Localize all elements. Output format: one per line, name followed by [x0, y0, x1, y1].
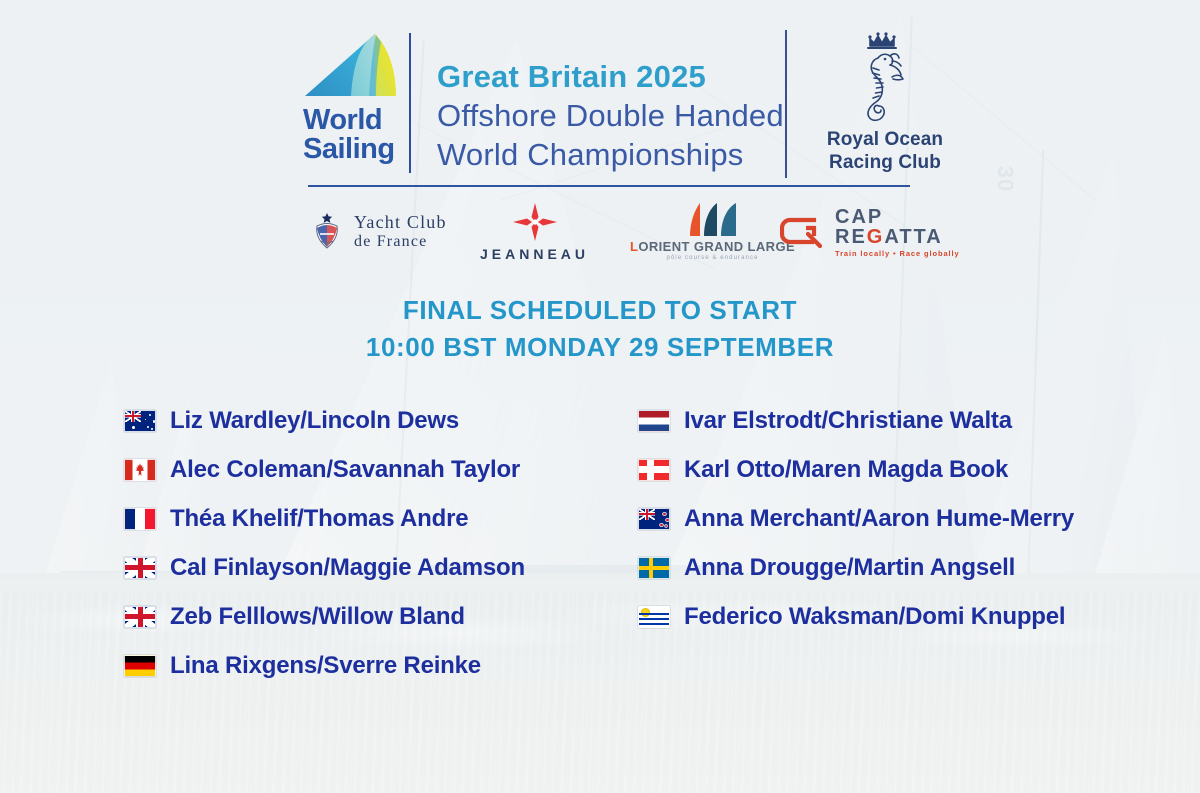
cap-regatta-tagline: Train locally • Race globally [835, 250, 960, 258]
ycf-crest-icon [308, 210, 346, 254]
event-title-line1: Great Britain 2025 [437, 58, 784, 97]
poster-header: World Sailing Great Britain 2025 Offshor… [0, 0, 1200, 190]
announcement-line2: 10:00 BST MONDAY 29 SEPTEMBER [0, 329, 1200, 366]
team-row: Ivar Elstrodt/Christiane Walta [638, 396, 1074, 445]
world-sailing-word-line1: World [303, 106, 403, 135]
flag-france-icon [124, 508, 156, 530]
flag-uruguay-icon [638, 606, 670, 628]
team-name: Alec Coleman/Savannah Taylor [170, 456, 520, 484]
team-row: Alec Coleman/Savannah Taylor [124, 445, 525, 494]
team-column-right: Ivar Elstrodt/Christiane Walta Karl Otto… [638, 396, 1074, 641]
cap-regatta-line2-b: G [867, 226, 885, 248]
header-divider-vertical-right [785, 30, 787, 178]
team-column-left: Liz Wardley/Lincoln Dews Alec Coleman/Sa… [124, 396, 525, 690]
announcement-block: FINAL SCHEDULED TO START 10:00 BST MONDA… [0, 292, 1200, 366]
team-name: Karl Otto/Maren Magda Book [684, 456, 1008, 484]
flag-great-britain-icon [124, 557, 156, 579]
team-row: Anna Merchant/Aaron Hume-Merry [638, 494, 1074, 543]
lorient-grand-large-wordmark: LORIENT GRAND LARGE [630, 239, 795, 254]
event-title-line3: World Championships [437, 136, 784, 175]
ycf-line1: Yacht Club [354, 213, 447, 233]
team-name: Cal Finlayson/Maggie Adamson [170, 554, 525, 582]
flag-germany-icon [124, 655, 156, 677]
rorc-logo: Royal Ocean Racing Club [800, 28, 970, 174]
team-row: Zeb Felllows/Willow Bland [124, 592, 525, 641]
world-sailing-sail-icon [303, 30, 403, 102]
team-name: Federico Waksman/Domi Knuppel [684, 603, 1065, 631]
team-name: Zeb Felllows/Willow Bland [170, 603, 465, 631]
cap-regatta-line2: REGATTA [835, 227, 960, 247]
team-row: Lina Rixgens/Sverre Reinke [124, 641, 525, 690]
jeanneau-compass-star-icon [512, 202, 558, 242]
flag-netherlands-icon [638, 410, 670, 432]
announcement-line1: FINAL SCHEDULED TO START [0, 292, 1200, 329]
team-name: Anna Drougge/Martin Angsell [684, 554, 1015, 582]
sponsor-logo-row: Yacht Club de France [0, 198, 1200, 268]
cap-regatta-line1: CAP [835, 207, 960, 227]
poster-canvas: 30 [0, 0, 1200, 793]
team-name: Lina Rixgens/Sverre Reinke [170, 652, 481, 680]
cap-regatta-mark-icon [780, 212, 826, 252]
world-sailing-word-line2: Sailing [303, 135, 403, 164]
world-sailing-logo: World Sailing [303, 30, 403, 172]
header-divider-horizontal [308, 185, 910, 187]
rorc-name-line2: Racing Club [800, 151, 970, 174]
rorc-seahorse-crest-icon [800, 28, 970, 128]
flag-sweden-icon [638, 557, 670, 579]
lorient-grand-large-tagline: pôle course & endurance [667, 255, 759, 261]
lorient-grand-large-sails-icon [664, 203, 762, 237]
team-row: Karl Otto/Maren Magda Book [638, 445, 1074, 494]
event-title-block: Great Britain 2025 Offshore Double Hande… [437, 58, 784, 174]
team-row: Federico Waksman/Domi Knuppel [638, 592, 1074, 641]
flag-canada-icon [124, 459, 156, 481]
team-row: Anna Drougge/Martin Angsell [638, 543, 1074, 592]
sponsor-lorient-grand-large: LORIENT GRAND LARGE pôle course & endura… [630, 198, 795, 266]
ycf-line2: de France [354, 233, 447, 251]
cap-regatta-line2-a: RE [835, 226, 867, 248]
team-name: Anna Merchant/Aaron Hume-Merry [684, 505, 1074, 533]
header-divider-vertical-left [409, 33, 411, 173]
lgl-word-part2: ORIENT [638, 239, 690, 254]
jeanneau-wordmark: JEANNEAU [480, 246, 589, 262]
rorc-name-line1: Royal Ocean [800, 128, 970, 151]
team-row: Cal Finlayson/Maggie Adamson [124, 543, 525, 592]
cap-regatta-line2-c: ATTA [884, 226, 942, 248]
event-title-line2: Offshore Double Handed [437, 97, 784, 136]
sponsor-jeanneau: JEANNEAU [480, 198, 589, 266]
sponsor-cap-regatta: CAP REGATTA Train locally • Race globall… [780, 198, 960, 266]
team-name: Ivar Elstrodt/Christiane Walta [684, 407, 1012, 435]
flag-australia-icon [124, 410, 156, 432]
team-row: Théa Khelif/Thomas Andre [124, 494, 525, 543]
team-row: Liz Wardley/Lincoln Dews [124, 396, 525, 445]
sponsor-yacht-club-de-france: Yacht Club de France [308, 198, 447, 266]
team-name: Liz Wardley/Lincoln Dews [170, 407, 459, 435]
flag-new-zealand-icon [638, 508, 670, 530]
flag-norway-icon [638, 459, 670, 481]
team-name: Théa Khelif/Thomas Andre [170, 505, 468, 533]
flag-great-britain-icon [124, 606, 156, 628]
